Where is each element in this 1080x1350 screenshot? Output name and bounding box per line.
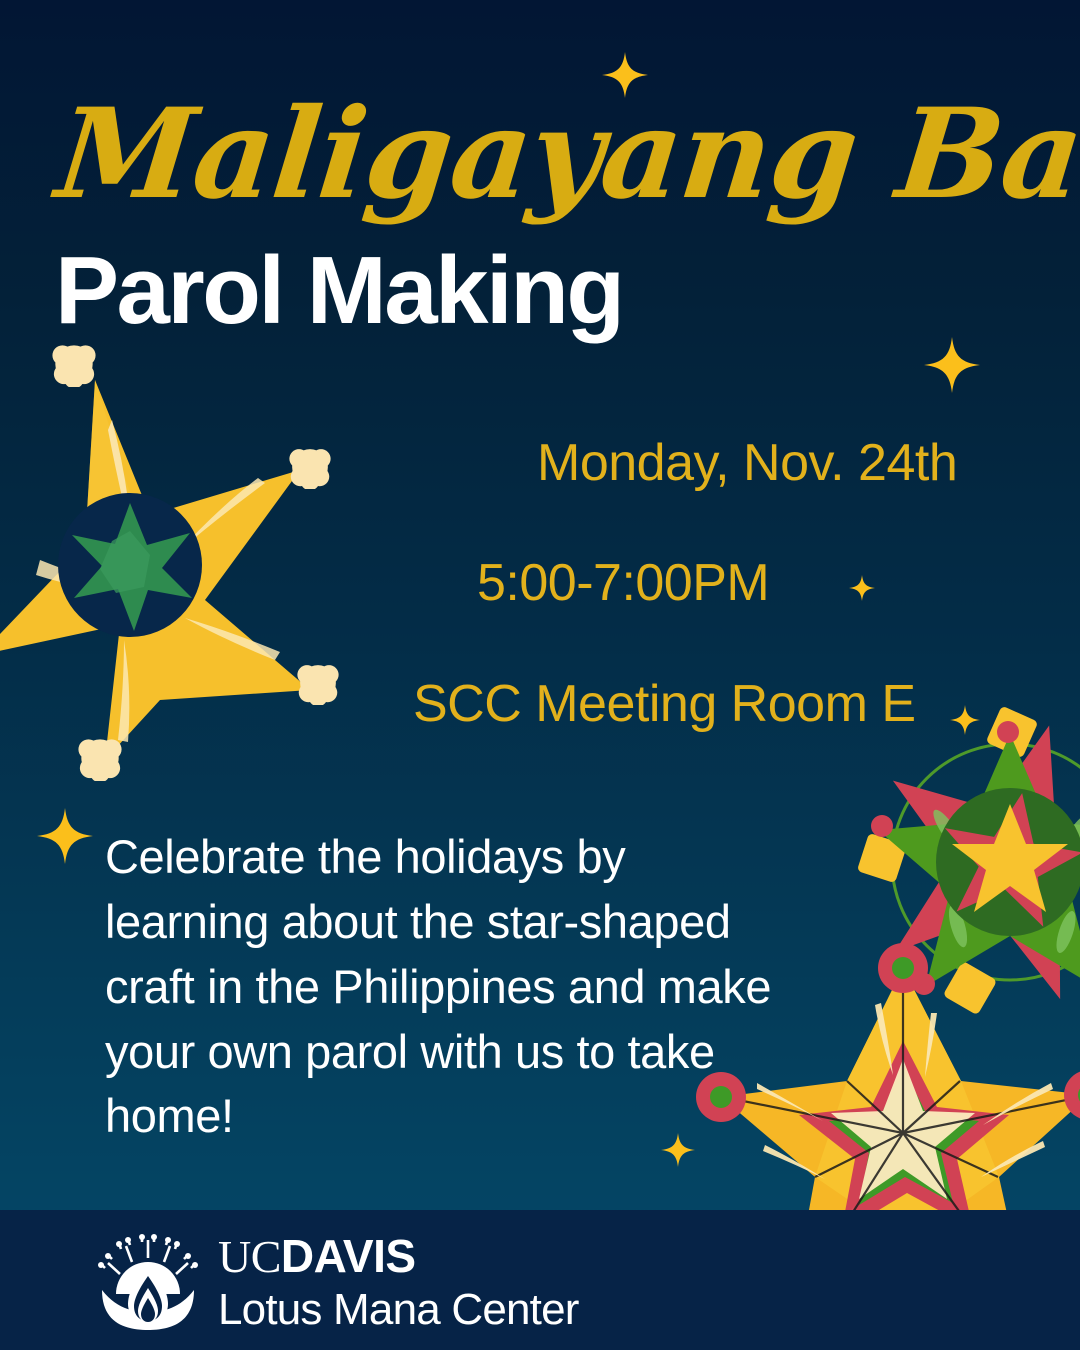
event-date: Monday, Nov. 24th: [537, 437, 957, 489]
parol-left-yellow-star: [0, 345, 339, 782]
logo-wordmark: UCDAVIS Lotus Mana Center: [218, 1233, 579, 1332]
davis-text: DAVIS: [281, 1230, 416, 1282]
lotus-logo-icon: [96, 1232, 200, 1332]
sparkle-upper-right: [924, 337, 980, 393]
script-title: Maligayang Bati:: [51, 92, 964, 218]
flyer-canvas: Maligayang Bati: Parol Making Monday, No…: [0, 0, 1080, 1350]
sparkle-body-left: [37, 808, 93, 864]
sparkle-room-right: [950, 705, 980, 735]
page-title: Parol Making: [55, 243, 622, 339]
sparkle-mid-right: [849, 575, 875, 601]
event-description: Celebrate the holidays by learning about…: [105, 825, 785, 1149]
footer-logo: UCDAVIS Lotus Mana Center: [96, 1232, 579, 1332]
uc-text: UC: [218, 1231, 281, 1282]
uc-davis-wordmark: UCDAVIS: [218, 1233, 579, 1280]
center-name: Lotus Mana Center: [218, 1288, 579, 1332]
event-time: 5:00-7:00PM: [477, 557, 769, 609]
event-location: SCC Meeting Room E: [413, 678, 916, 730]
